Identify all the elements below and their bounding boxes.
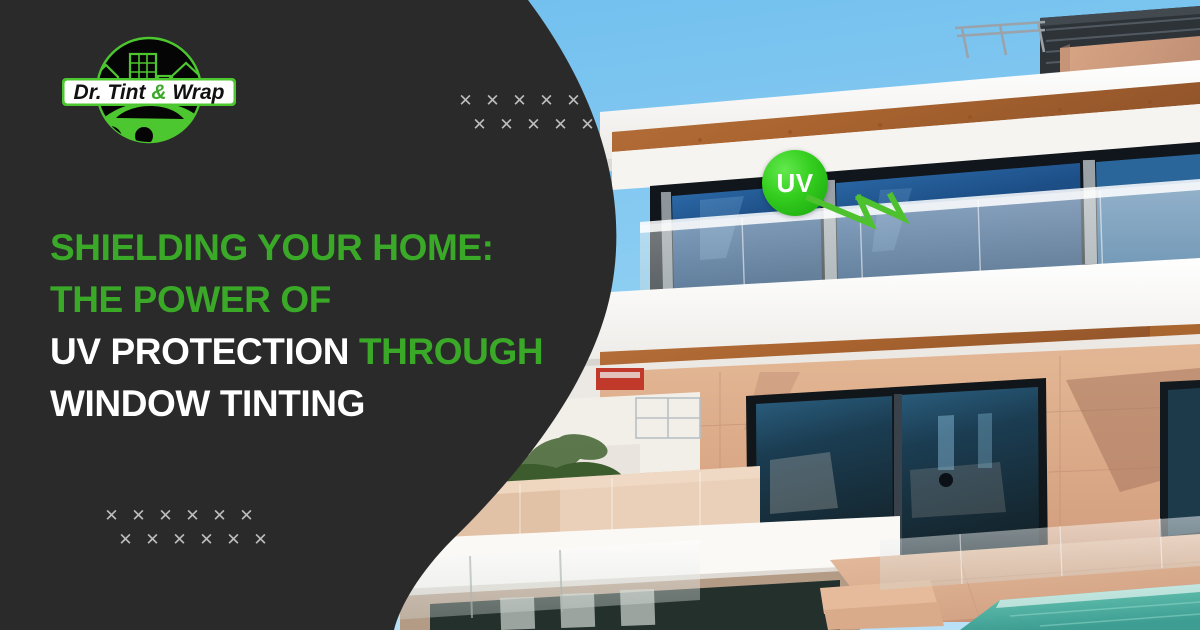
cross-icon: ✕ — [493, 117, 520, 134]
headline-line-3-green: THROUGH — [359, 331, 543, 372]
cross-icon: ✕ — [193, 532, 220, 549]
cross-icon: ✕ — [520, 117, 547, 134]
headline: SHIELDING YOUR HOME: THE POWER OF UV PRO… — [50, 222, 580, 430]
headline-line-3-white: UV PROTECTION — [50, 331, 349, 372]
headline-line-3: UV PROTECTION THROUGH — [50, 326, 580, 378]
cross-icon: ✕ — [574, 117, 601, 134]
headline-line-1: SHIELDING YOUR HOME: — [50, 222, 580, 274]
cross-icon: ✕ — [125, 508, 152, 525]
cross-icon: ✕ — [139, 532, 166, 549]
cross-icon: ✕ — [506, 93, 533, 110]
cross-row: ✕ ✕ ✕ ✕ ✕ — [466, 117, 601, 134]
headline-space — [349, 331, 359, 372]
cross-pattern-top: ✕ ✕ ✕ ✕ ✕ ✕ ✕ ✕ ✕ ✕ — [452, 93, 601, 134]
cross-icon: ✕ — [220, 532, 247, 549]
headline-line-4: WINDOW TINTING — [50, 378, 580, 430]
cross-icon: ✕ — [547, 117, 574, 134]
cross-row: ✕ ✕ ✕ ✕ ✕ — [452, 93, 601, 110]
cross-icon: ✕ — [247, 532, 274, 549]
cross-icon: ✕ — [479, 93, 506, 110]
cross-icon: ✕ — [166, 532, 193, 549]
cross-icon: ✕ — [98, 508, 125, 525]
dr-tint-and-wrap-logo[interactable]: Dr. Tint & Wrap — [54, 32, 244, 152]
cross-icon: ✕ — [452, 93, 479, 110]
logo-wordmark: Dr. Tint & Wrap — [74, 81, 225, 104]
cross-icon: ✕ — [560, 93, 587, 110]
cross-icon: ✕ — [533, 93, 560, 110]
cross-icon: ✕ — [152, 508, 179, 525]
cross-icon: ✕ — [233, 508, 260, 525]
headline-line-2: THE POWER OF — [50, 274, 580, 326]
blog-banner: Dr. Tint & Wrap ✕ ✕ ✕ ✕ ✕ ✕ ✕ ✕ ✕ ✕ SH — [0, 0, 1200, 630]
cross-row: ✕ ✕ ✕ ✕ ✕ ✕ — [112, 532, 274, 549]
uv-ray-deflect-icon — [805, 186, 920, 246]
cross-icon: ✕ — [179, 508, 206, 525]
cross-row: ✕ ✕ ✕ ✕ ✕ ✕ — [98, 508, 274, 525]
cross-pattern-bottom: ✕ ✕ ✕ ✕ ✕ ✕ ✕ ✕ ✕ ✕ ✕ ✕ — [98, 508, 274, 549]
cross-icon: ✕ — [206, 508, 233, 525]
cross-icon: ✕ — [112, 532, 139, 549]
cross-icon: ✕ — [466, 117, 493, 134]
